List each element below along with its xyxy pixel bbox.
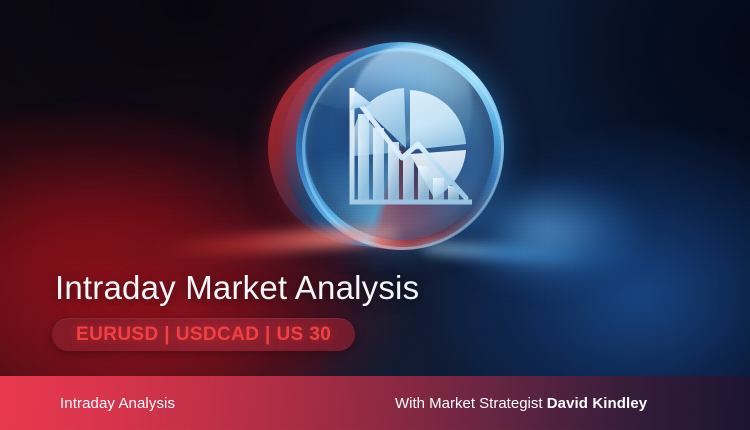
page-title: Intraday Market Analysis [55, 268, 419, 308]
intraday-market-analysis-banner: Intraday Market Analysis EURUSD | USDCAD… [0, 0, 750, 430]
chart-glyph-group [306, 52, 494, 240]
instruments-badge-label: EURUSD | USDCAD | US 30 [76, 324, 331, 346]
footer-author-line: With Market Strategist David Kindley [395, 395, 647, 412]
instruments-badge: EURUSD | USDCAD | US 30 [52, 318, 355, 351]
footer-author-prefix: With Market Strategist [395, 395, 547, 412]
footer-author-name: David Kindley [547, 395, 648, 412]
footer-bar: Intraday Analysis With Market Strategist… [0, 376, 750, 430]
footer-category-label: Intraday Analysis [60, 395, 175, 412]
